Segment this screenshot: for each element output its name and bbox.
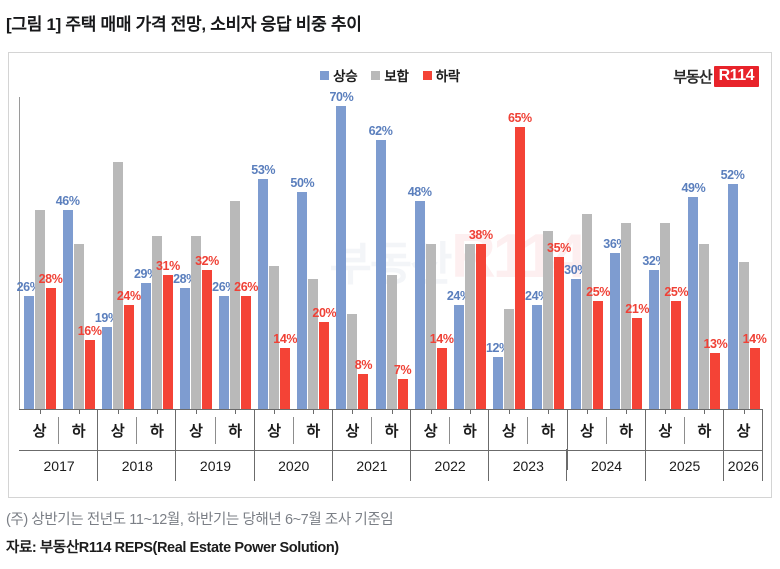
bar-group: 70%8%: [333, 97, 372, 409]
bar-group: 62%7%: [372, 97, 411, 409]
plot-area: 26%28%46%16%19%24%29%31%28%32%26%26%53%1…: [19, 97, 763, 409]
bar-up[interactable]: [728, 184, 738, 409]
half-label-2025-상: 상: [646, 410, 685, 451]
bar-up[interactable]: [63, 210, 73, 409]
bar-down[interactable]: [85, 340, 95, 409]
bar-slot-up: 52%: [728, 97, 738, 409]
legend-item-down[interactable]: 하락: [423, 65, 460, 85]
bar-group: 24%38%: [450, 97, 489, 409]
bar-down[interactable]: [280, 348, 290, 409]
bar-slot-up: 70%: [336, 97, 346, 409]
half-year-labels: 상하상하상하상하상하상하상하상하상하상: [20, 410, 763, 451]
year-label-2018: 2018: [98, 451, 176, 481]
bar-up[interactable]: [610, 253, 620, 409]
bar-slot-up: 50%: [297, 97, 307, 409]
bar-slot-flat: [739, 97, 749, 409]
bar-flat[interactable]: [699, 244, 709, 409]
bar-down[interactable]: [358, 374, 368, 409]
chart-legend: 상승보합하락: [9, 65, 771, 85]
bar-slot-down: 21%: [632, 97, 642, 409]
half-label-2017-하: 하: [59, 410, 98, 451]
bar-slot-down: 25%: [593, 97, 603, 409]
bar-up[interactable]: [415, 201, 425, 409]
bar-slot-down: 24%: [124, 97, 134, 409]
year-label-2023: 2023: [489, 451, 567, 481]
bar-down[interactable]: [750, 348, 760, 409]
bar-group: 53%14%: [255, 97, 294, 409]
bar-up[interactable]: [297, 192, 307, 409]
brand-wordmark: 부동산: [673, 66, 711, 87]
half-label-2024-하: 하: [607, 410, 646, 451]
bar-up[interactable]: [258, 179, 268, 409]
bar-group: 49%13%: [685, 97, 724, 409]
bar-group: 28%32%: [176, 97, 215, 409]
year-labels: 2017201820192020202120222023202420252026: [20, 451, 763, 481]
bar-slot-flat: [465, 97, 475, 409]
bar-slot-down: 32%: [202, 97, 212, 409]
half-label-2018-하: 하: [137, 410, 176, 451]
bar-slot-up: 32%: [649, 97, 659, 409]
bar-slot-flat: [504, 97, 514, 409]
bar-slot-down: 20%: [319, 97, 329, 409]
bar-up[interactable]: [532, 305, 542, 409]
bar-up[interactable]: [336, 106, 346, 409]
bar-group: 29%31%: [137, 97, 176, 409]
bar-slot-up: 26%: [24, 97, 34, 409]
bar-slot-up: 24%: [454, 97, 464, 409]
bar-flat[interactable]: [465, 244, 475, 409]
half-label-2020-하: 하: [294, 410, 333, 451]
bar-up[interactable]: [376, 140, 386, 409]
bar-down[interactable]: [124, 305, 134, 409]
bar-down[interactable]: [593, 301, 603, 409]
legend-label: 상승: [333, 65, 357, 85]
bar-slot-down: 38%: [476, 97, 486, 409]
bar-group: 48%14%: [411, 97, 450, 409]
brand-logo: 부동산 R114: [673, 66, 759, 87]
year-label-2022: 2022: [411, 451, 489, 481]
brand-badge: R114: [714, 66, 759, 87]
half-label-2019-하: 하: [216, 410, 255, 451]
bar-down[interactable]: [515, 127, 525, 409]
bar-slot-up: 19%: [102, 97, 112, 409]
bar-up[interactable]: [493, 357, 503, 409]
half-label-2021-상: 상: [333, 410, 372, 451]
bar-down[interactable]: [319, 322, 329, 409]
bar-group: 32%25%: [646, 97, 685, 409]
half-label-2023-하: 하: [528, 410, 567, 451]
half-label-2017-상: 상: [20, 410, 59, 451]
bar-slot-up: 29%: [141, 97, 151, 409]
bar-group: 19%24%: [98, 97, 137, 409]
bar-slot-flat: [308, 97, 318, 409]
bar-group: 46%16%: [59, 97, 98, 409]
bar-up[interactable]: [688, 197, 698, 409]
bar-down[interactable]: [710, 353, 720, 409]
bar-up[interactable]: [102, 327, 112, 409]
bar-slot-flat: [230, 97, 240, 409]
half-label-2025-하: 하: [685, 410, 724, 451]
bar-value-label: 14%: [743, 332, 767, 346]
bar-slot-up: 12%: [493, 97, 503, 409]
bar-up[interactable]: [454, 305, 464, 409]
bar-slot-flat: [152, 97, 162, 409]
legend-swatch-down-icon: [423, 71, 432, 80]
bar-value-label: 8%: [355, 358, 372, 372]
bar-slot-flat: [621, 97, 631, 409]
bar-down[interactable]: [554, 257, 564, 409]
chart-frame: 부동산 R114 상승보합하락 부동산 R114 26%28%46%16%19%…: [8, 52, 772, 498]
bar-slot-flat: [699, 97, 709, 409]
year-label-2024: 2024: [567, 451, 645, 481]
bar-slot-down: 8%: [358, 97, 368, 409]
bar-flat[interactable]: [387, 275, 397, 409]
bar-flat[interactable]: [308, 279, 318, 409]
bar-down[interactable]: [163, 275, 173, 409]
bar-groups: 26%28%46%16%19%24%29%31%28%32%26%26%53%1…: [20, 97, 763, 409]
bar-slot-down: 14%: [280, 97, 290, 409]
bar-down[interactable]: [202, 270, 212, 409]
half-label-2026-상: 상: [724, 410, 763, 451]
bar-slot-flat: [113, 97, 123, 409]
bar-down[interactable]: [46, 288, 56, 409]
bar-up[interactable]: [649, 270, 659, 409]
bar-slot-down: 13%: [710, 97, 720, 409]
bar-slot-up: 26%: [219, 97, 229, 409]
bar-group: 24%35%: [528, 97, 567, 409]
bar-slot-down: 35%: [554, 97, 564, 409]
bar-value-label: 7%: [394, 363, 411, 377]
bar-up[interactable]: [219, 296, 229, 409]
bar-slot-down: 7%: [398, 97, 408, 409]
bar-slot-down: 28%: [46, 97, 56, 409]
legend-item-flat[interactable]: 보합: [371, 65, 408, 85]
bar-slot-up: 49%: [688, 97, 698, 409]
half-label-2018-상: 상: [98, 410, 137, 451]
bar-down[interactable]: [241, 296, 251, 409]
bar-slot-down: 31%: [163, 97, 173, 409]
bar-slot-flat: [426, 97, 436, 409]
half-label-2022-하: 하: [450, 410, 489, 451]
legend-swatch-flat-icon: [371, 71, 380, 80]
bar-group: 50%20%: [294, 97, 333, 409]
bar-slot-up: 48%: [415, 97, 425, 409]
bar-slot-down: 26%: [241, 97, 251, 409]
bar-up[interactable]: [24, 296, 34, 409]
bar-flat[interactable]: [660, 223, 670, 409]
half-label-2020-상: 상: [255, 410, 294, 451]
year-label-2020: 2020: [255, 451, 333, 481]
bar-slot-up: 53%: [258, 97, 268, 409]
bar-down[interactable]: [437, 348, 447, 409]
year-label-2025: 2025: [646, 451, 724, 481]
year-label-2026: 2026: [724, 451, 763, 481]
bar-up[interactable]: [571, 279, 581, 409]
bar-down[interactable]: [671, 301, 681, 409]
bar-group: 26%26%: [216, 97, 255, 409]
bar-slot-flat: [660, 97, 670, 409]
bar-slot-up: 46%: [63, 97, 73, 409]
bar-group: 12%65%: [489, 97, 528, 409]
bar-flat[interactable]: [582, 214, 592, 409]
bar-down[interactable]: [476, 244, 486, 409]
bar-group: 52%14%: [724, 97, 763, 409]
half-label-2022-상: 상: [411, 410, 450, 451]
half-label-2023-상: 상: [489, 410, 528, 451]
legend-item-up[interactable]: 상승: [320, 65, 357, 85]
bar-slot-down: 65%: [515, 97, 525, 409]
bar-up[interactable]: [141, 283, 151, 409]
bar-slot-flat: [74, 97, 84, 409]
bar-group: 30%25%: [568, 97, 607, 409]
bar-slot-flat: [582, 97, 592, 409]
half-label-2024-상: 상: [568, 410, 607, 451]
bar-slot-flat: [35, 97, 45, 409]
legend-label: 하락: [436, 65, 460, 85]
half-label-2019-상: 상: [176, 410, 215, 451]
footnote: (주) 상반기는 전년도 11~12월, 하반기는 당해년 6~7월 조사 기준…: [6, 508, 393, 529]
bar-down[interactable]: [398, 379, 408, 409]
bar-flat[interactable]: [230, 201, 240, 409]
year-label-2021: 2021: [333, 451, 411, 481]
bar-group: 26%28%: [20, 97, 59, 409]
legend-swatch-up-icon: [320, 71, 329, 80]
bar-slot-down: 14%: [437, 97, 447, 409]
bar-flat[interactable]: [504, 309, 514, 409]
bar-slot-down: 14%: [750, 97, 760, 409]
half-label-2021-하: 하: [372, 410, 411, 451]
source-note: 자료: 부동산R114 REPS(Real Estate Power Solut…: [6, 536, 339, 557]
year-label-2017: 2017: [20, 451, 98, 481]
bar-slot-up: 24%: [532, 97, 542, 409]
bar-flat[interactable]: [35, 210, 45, 409]
bar-group: 36%21%: [607, 97, 646, 409]
page-title: [그림 1] 주택 매매 가격 전망, 소비자 응답 비중 추이: [6, 10, 362, 35]
year-label-2019: 2019: [176, 451, 254, 481]
bar-slot-flat: [191, 97, 201, 409]
bar-slot-up: 36%: [610, 97, 620, 409]
bar-down[interactable]: [632, 318, 642, 409]
bar-flat[interactable]: [113, 162, 123, 409]
bar-slot-down: 25%: [671, 97, 681, 409]
legend-label: 보합: [384, 65, 408, 85]
bar-up[interactable]: [180, 288, 190, 409]
bar-slot-down: 16%: [85, 97, 95, 409]
chart-page: [그림 1] 주택 매매 가격 전망, 소비자 응답 비중 추이 부동산 R11…: [0, 0, 780, 569]
bar-slot-up: 62%: [376, 97, 386, 409]
bar-flat[interactable]: [426, 244, 436, 409]
bar-slot-up: 28%: [180, 97, 190, 409]
bar-flat[interactable]: [543, 231, 553, 409]
bar-slot-flat: [269, 97, 279, 409]
bar-slot-up: 30%: [571, 97, 581, 409]
